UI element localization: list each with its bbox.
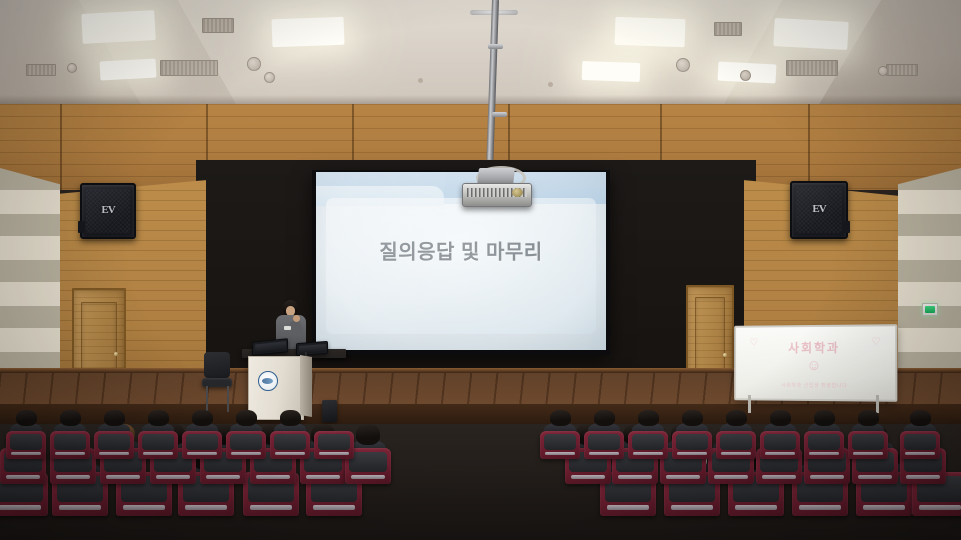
laptop-screen [299,344,326,354]
ceiling-air-vent [160,60,218,76]
seat-trim-bar [799,505,842,509]
ceiling-light-panel [81,10,155,44]
chair-leg [227,386,229,412]
laptop-screen [255,341,286,353]
ceiling-light-panel [615,17,686,47]
seat-trim-bar [275,452,305,455]
seat-headrest [588,434,621,450]
seat-headrest [10,434,43,450]
auditorium-seat[interactable] [804,431,844,459]
speaker-bracket [843,221,850,233]
audience-seating-area [0,424,961,540]
ceiling-air-vent [26,64,56,76]
seat-trim-bar [11,452,41,455]
audience-member-head [814,410,835,426]
speaker-brand-label: EV [82,204,134,216]
seat-headrest [142,434,175,450]
seat-trim-bar [765,452,795,455]
seat-headrest [318,434,351,450]
presenter-name-badge [284,326,291,330]
projector-body [462,183,532,207]
seat-headrest [274,434,307,450]
laptop-right[interactable] [296,341,328,356]
seat-trim-bar [919,505,961,509]
chair-leg [206,386,208,412]
seat-trim-bar [187,452,217,455]
audience-member-head [726,410,747,426]
audience-member-head [280,410,301,426]
seat-headrest [720,434,753,450]
door-knob-icon[interactable] [723,353,727,357]
audience-member-head [60,410,81,426]
ceiling-speaker-icon [67,63,77,73]
audience-member-head [594,410,615,426]
ceiling-air-vent [714,22,742,36]
ceiling-air-vent [202,18,234,33]
seat-trim-bar [863,505,906,509]
seat-trim-bar [319,452,349,455]
ceiling-speaker-icon [740,70,751,81]
presenter-hand [293,315,300,322]
whiteboard-doodle-icon: ☺ [806,357,821,374]
auditorium-seat[interactable] [628,431,668,459]
projector-lens-icon [512,188,523,197]
audience-member-head [910,410,931,426]
audience-member-head [770,410,791,426]
ceiling-speaker-icon [878,66,888,76]
auditorium-seat[interactable] [540,431,580,459]
audience-member-head [148,410,169,426]
seat-headrest [904,434,937,450]
auditorium-seat[interactable] [314,431,354,459]
whiteboard-heading: 사회학과 [736,338,895,356]
seat-headrest [764,434,797,450]
wall-seam [60,104,62,190]
ceiling-air-vent [786,60,838,76]
seat-trim-bar [809,452,839,455]
projection-screen: 질의응답 및 마무리 [316,172,606,350]
whiteboard[interactable]: ♡ ♡ 사회학과 ☺ 사회학과 신입생 환영합니다 [734,324,897,402]
whiteboard-leg [748,395,751,413]
seat-trim-bar [123,505,166,509]
audience-member-head [638,410,659,426]
auditorium-seat[interactable] [672,431,712,459]
auditorium-seat[interactable] [900,431,940,459]
speaker-bracket [78,221,85,233]
right-wall-speaker: EV [790,181,848,239]
seat-trim-bar [671,505,714,509]
wall-seam [808,104,810,190]
seat-headrest [676,434,709,450]
seat-headrest [98,434,131,450]
audience-member-head [104,410,125,426]
ceiling-light-panel [773,18,848,50]
auditorium-seat[interactable] [182,431,222,459]
seat-headrest [852,434,885,450]
ceiling-light-panel [272,17,345,47]
auditorium-seat[interactable] [848,431,888,459]
seat-trim-bar [589,452,619,455]
ceiling-light-panel [100,59,157,81]
exit-sign [922,303,938,316]
seat-trim-bar [55,452,85,455]
seat-trim-bar [721,452,751,455]
seat-trim-bar [59,505,102,509]
auditorium-seat[interactable] [270,431,310,459]
projector-pole-collar [488,44,503,49]
audience-member-head [236,410,257,426]
podium-side-panel [300,355,312,417]
stage-chair [202,352,232,412]
auditorium-seat[interactable] [138,431,178,459]
seat-trim-bar [905,452,935,455]
slide-body [326,198,596,334]
seat-headrest [230,434,263,450]
sprinkler-icon [548,82,553,87]
university-emblem-icon [258,371,278,391]
seat-trim-bar [633,452,663,455]
auditorium-seat[interactable] [6,431,46,459]
ceiling-speaker-icon [247,57,261,71]
chair-back [204,352,230,378]
exit-sign-glow [925,306,935,313]
seat-trim-bar [607,505,650,509]
seat-headrest [544,434,577,450]
seat-headrest [808,434,841,450]
auditorium-seat[interactable] [94,431,134,459]
seat-headrest [54,434,87,450]
audience-member-head [858,410,879,426]
seat-trim-bar [677,452,707,455]
seat-trim-bar [143,452,173,455]
whiteboard-leg [876,395,879,413]
ceiling-speaker-icon [264,72,275,83]
auditorium-seat[interactable] [226,431,266,459]
seat-trim-bar [0,505,41,509]
seat-trim-bar [853,452,883,455]
projector-pole-collar [492,112,507,117]
seat-trim-bar [735,505,778,509]
seat-trim-bar [250,505,293,509]
speaker-brand-label: EV [792,203,846,215]
sprinkler-icon [418,78,423,83]
audience-member-head [192,410,213,426]
auditorium-scene: EV EV 질의응답 및 마무리 [0,0,961,540]
seat-trim-bar [545,452,575,455]
slide-title-text: 질의응답 및 마무리 [316,236,606,265]
audience-member-head [16,410,37,426]
audience-member-head [550,410,571,426]
seat-trim-bar [231,452,261,455]
left-wall-speaker: EV [80,183,136,239]
auditorium-seat[interactable] [584,431,624,459]
door-knob-icon[interactable] [114,352,118,356]
seat-trim-bar [313,505,356,509]
whiteboard-subtext: 사회학과 신입생 환영합니다 [736,382,895,390]
seat-headrest [632,434,665,450]
auditorium-seat[interactable] [760,431,800,459]
ceiling-light-panel [582,61,641,82]
auditorium-seat[interactable] [50,431,90,459]
ceiling-speaker-icon [676,58,690,72]
audience-member-head [682,410,703,426]
ceiling-air-vent [886,64,918,76]
seat-headrest [186,434,219,450]
auditorium-seat[interactable] [716,431,756,459]
seat-trim-bar [99,452,129,455]
seat-trim-bar [185,505,228,509]
seat-row [0,418,961,476]
